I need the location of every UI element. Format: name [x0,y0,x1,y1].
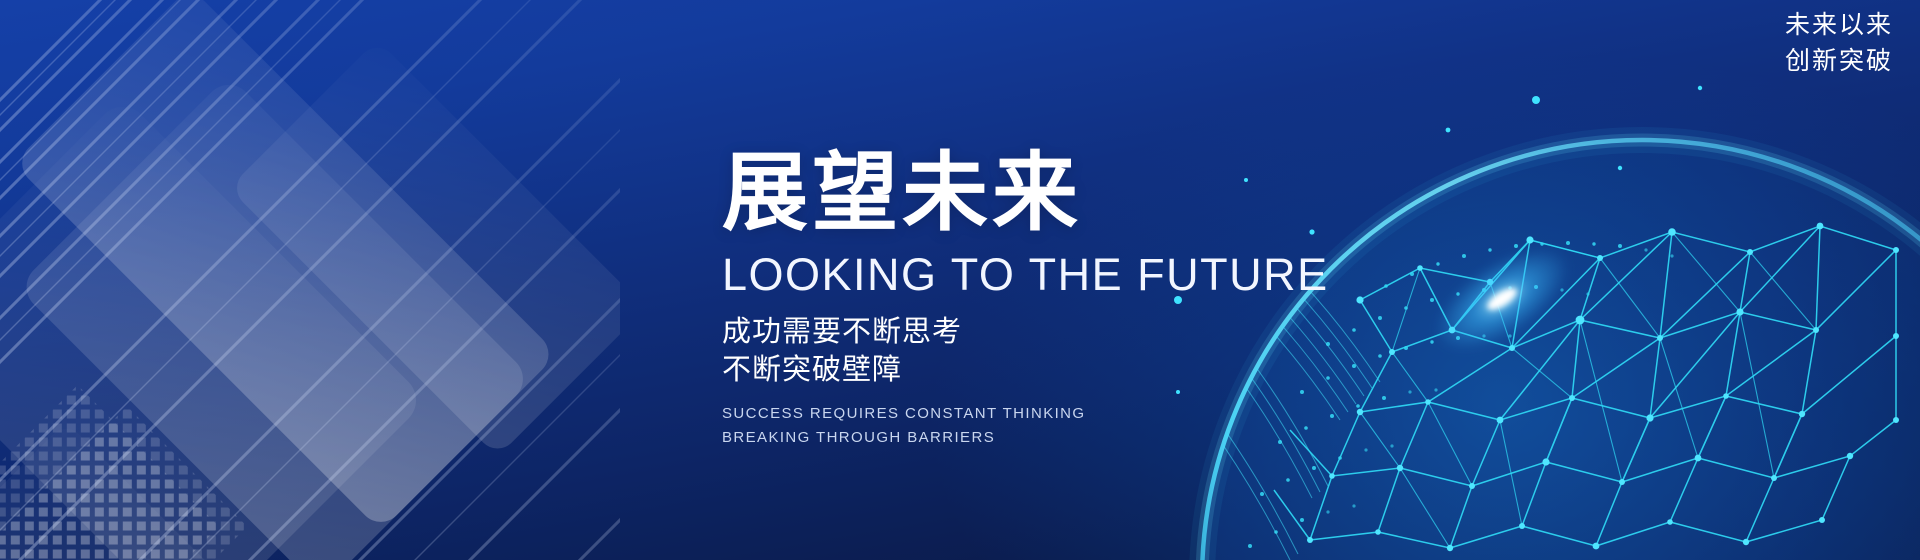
subtitle-en: SUCCESS REQUIRES CONSTANT THINKING BREAK… [722,402,1342,451]
flare-halo [1420,229,1584,369]
light-flare [1462,268,1542,330]
hero-banner: 展望未来 LOOKING TO THE FUTURE 成功需要不断思考 不断突破… [0,0,1920,560]
flare-core [1484,284,1520,313]
corner-slogan: 未来以来 创新突破 [1785,8,1893,79]
page-title-en: LOOKING TO THE FUTURE [722,252,1342,297]
page-title-cn: 展望未来 [722,150,1342,236]
subtitle-cn-line-2: 不断突破壁障 [722,354,902,386]
subtitle-en-line-2: BREAKING THROUGH BARRIERS [722,429,995,446]
hero-copy: 展望未来 LOOKING TO THE FUTURE 成功需要不断思考 不断突破… [722,150,1342,450]
corner-slogan-line-2: 创新突破 [1785,44,1893,80]
subtitle-cn-line-1: 成功需要不断思考 [722,316,962,348]
subtitle-cn: 成功需要不断思考 不断突破壁障 [722,313,1342,390]
diagonal-geometric-pattern [0,0,620,560]
subtitle-en-line-1: SUCCESS REQUIRES CONSTANT THINKING [722,405,1085,422]
corner-slogan-line-1: 未来以来 [1785,8,1893,44]
